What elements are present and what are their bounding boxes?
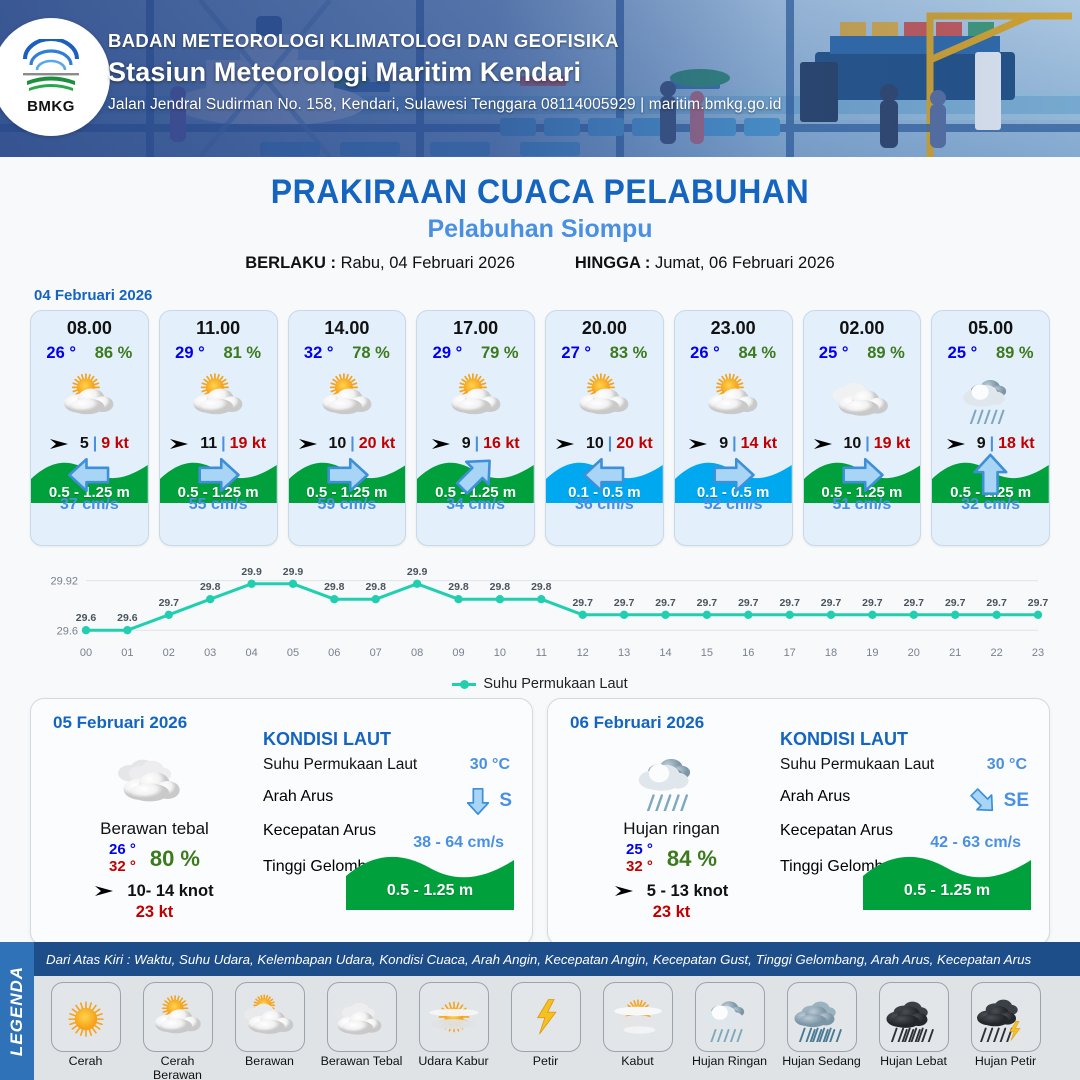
air-temperature: 26 °	[46, 344, 76, 363]
wave-band: 0.5 - 1.25 m 32 cm/s	[932, 457, 1049, 519]
bmkg-logo-icon	[19, 39, 83, 97]
day-weather-icon-slot	[47, 743, 262, 815]
sunny-icon	[57, 992, 115, 1042]
wind-speed: 9	[977, 435, 986, 453]
svg-text:11: 11	[536, 647, 547, 659]
current-row: 34 cm/s	[417, 496, 534, 514]
sst-label: Suhu Permukaan Laut	[263, 756, 417, 773]
wind-speed: 9	[719, 435, 728, 453]
sst-value: 30 °C	[987, 756, 1027, 774]
wind-gust: 19 kt	[230, 435, 266, 453]
wind-speed: 10	[844, 435, 862, 453]
humidity: 89 %	[867, 344, 905, 363]
current-speed: 52 cm/s	[704, 496, 763, 514]
partly-cloudy-icon	[187, 370, 249, 423]
wind-gust: 20 kt	[616, 435, 652, 453]
legend-icon-box	[419, 982, 489, 1052]
wind-direction-icon	[615, 883, 641, 899]
svg-text:16: 16	[742, 647, 754, 659]
wind-separator: |	[865, 435, 869, 453]
sst-chart-svg: 29.629.9229.60029.60129.70229.80329.9042…	[28, 562, 1052, 674]
forecast-card: 23.00 26 ° 84 % 9	[674, 310, 793, 546]
wind-row: 9 | 16 kt	[417, 435, 534, 453]
legend-item: Petir	[504, 982, 587, 1069]
current-speed-label: Kecepatan Arus	[263, 822, 376, 839]
forecast-time: 14.00	[289, 318, 406, 339]
legend-item-label: Hujan Lebat	[872, 1055, 955, 1069]
legend-side-title: LEGENDA	[7, 966, 27, 1056]
wind-separator: |	[221, 435, 225, 453]
air-temperature: 29 °	[433, 344, 463, 363]
wind-direction-icon	[50, 436, 76, 452]
wave-band: 0.5 - 1.25 m 51 cm/s	[804, 457, 921, 519]
sst-chart: 29.629.9229.60029.60129.70229.80329.9042…	[28, 562, 1052, 674]
thunderstorm-icon	[977, 992, 1035, 1042]
day-wind-gust: 23 kt	[564, 903, 779, 922]
current-speed: 55 cm/s	[189, 496, 248, 514]
partly-cloudy-icon	[445, 370, 507, 423]
forecast-time: 02.00	[804, 318, 921, 339]
legend-item: Cerah	[44, 982, 127, 1069]
sea-conditions-block: KONDISI LAUT Suhu Permukaan Laut 30 °C A…	[780, 729, 1035, 888]
wave-height-value: 0.5 - 1.25 m	[863, 882, 1031, 900]
day-humidity: 84 %	[667, 846, 717, 872]
valid-from-label: BERLAKU :	[245, 254, 336, 272]
forecast-time: 20.00	[546, 318, 663, 339]
wind-direction-icon	[947, 436, 973, 452]
svg-text:29.7: 29.7	[738, 597, 759, 609]
current-direction-icon	[675, 452, 792, 498]
light-rain-icon	[635, 747, 709, 811]
wind-speed: 10	[586, 435, 604, 453]
svg-text:22: 22	[990, 647, 1002, 659]
current-speed: 51 cm/s	[833, 496, 892, 514]
wave-height-badge: 0.5 - 1.25 m	[346, 846, 514, 910]
light-rain-icon	[701, 992, 759, 1042]
svg-text:09: 09	[452, 647, 464, 659]
wind-row: 9 | 18 kt	[932, 435, 1049, 453]
wind-direction-icon	[689, 436, 715, 452]
legend-note: Dari Atas Kiri : Waktu, Suhu Udara, Kele…	[34, 942, 1080, 976]
svg-text:29.7: 29.7	[572, 597, 593, 609]
svg-text:10: 10	[494, 647, 506, 659]
wind-direction-icon	[814, 436, 840, 452]
svg-text:13: 13	[618, 647, 630, 659]
forecast-card-row: 08.00 26 ° 86 % 5	[0, 310, 1080, 546]
svg-text:29.7: 29.7	[1028, 597, 1049, 609]
valid-from: BERLAKU : Rabu, 04 Februari 2026	[245, 254, 515, 273]
wave-band: 0.1 - 0.5 m 52 cm/s	[675, 457, 792, 519]
svg-text:29.7: 29.7	[697, 597, 718, 609]
daily-summary-row: 05 Februari 2026	[0, 698, 1080, 946]
legend-item-label: Hujan Ringan	[688, 1055, 771, 1069]
station-name: Stasiun Meteorologi Maritim Kendari	[108, 57, 781, 88]
wind-separator: |	[990, 435, 994, 453]
legend-item: Hujan Petir	[964, 982, 1047, 1069]
legend-item-label: Udara Kabur	[412, 1055, 495, 1069]
current-speed-label: Kecepatan Arus	[780, 822, 893, 839]
day-date: 05 Februari 2026	[53, 713, 187, 733]
svg-text:29.9: 29.9	[407, 566, 428, 578]
partly-cloudy-icon	[573, 370, 635, 423]
legend-item-label: Hujan Petir	[964, 1055, 1047, 1069]
wave-shape-icon	[346, 846, 514, 910]
forecast-card: 20.00 27 ° 83 % 10	[545, 310, 664, 546]
forecast-time: 11.00	[160, 318, 277, 339]
svg-text:29.8: 29.8	[324, 581, 345, 593]
day-weather-block: Berawan tebal 26 ° 32 ° 80 % 10- 14 knot…	[47, 743, 262, 922]
current-direction-icon	[546, 452, 663, 498]
humidity: 83 %	[610, 344, 648, 363]
day-weather-icon-slot	[564, 743, 779, 815]
station-address: Jalan Jendral Sudirman No. 158, Kendari,…	[108, 96, 781, 114]
mostly-cloudy-icon	[241, 992, 299, 1042]
legend-item-label: Petir	[504, 1055, 587, 1069]
legend-item-label: Hujan Sedang	[780, 1055, 863, 1069]
day-temp-min: 25 °	[626, 842, 653, 859]
current-direction-row: Arah Arus SE	[780, 788, 1035, 822]
cloudy-icon	[831, 370, 893, 423]
wind-direction-icon	[432, 436, 458, 452]
valid-to-label: HINGGA :	[575, 254, 650, 272]
legend-item-label: Berawan Tebal	[320, 1055, 403, 1069]
day-temp-max: 32 °	[626, 859, 653, 876]
day-temp-range: 25 ° 32 °	[626, 842, 653, 876]
forecast-time: 23.00	[675, 318, 792, 339]
legend-items: Cerah Cerah Berawan	[34, 976, 1080, 1080]
legend-item-label: Cerah Berawan	[136, 1055, 219, 1080]
legend-item: Berawan	[228, 982, 311, 1069]
sst-value: 30 °C	[470, 756, 510, 774]
day-condition: Berawan tebal	[47, 819, 262, 839]
page-subtitle: Pelabuhan Siompu	[0, 215, 1080, 244]
wind-direction-icon	[299, 436, 325, 452]
svg-text:07: 07	[370, 647, 382, 659]
weather-icon-slot	[289, 366, 406, 428]
wind-row: 5 | 9 kt	[31, 435, 148, 453]
svg-text:23: 23	[1032, 647, 1044, 659]
current-direction-label: Arah Arus	[263, 788, 333, 805]
bmkg-logo-text: BMKG	[27, 98, 75, 115]
legend-icon-box	[787, 982, 857, 1052]
wave-band: 0.5 - 1.25 m 34 cm/s	[417, 457, 534, 519]
svg-text:29.6: 29.6	[76, 612, 97, 624]
svg-text:05: 05	[287, 647, 299, 659]
daily-summary-card: 05 Februari 2026	[30, 698, 533, 946]
current-direction-icon	[160, 452, 277, 498]
wave-band: 0.5 - 1.25 m 59 cm/s	[289, 457, 406, 519]
legend-label: Suhu Permukaan Laut	[483, 676, 627, 692]
current-speed: 36 cm/s	[575, 496, 634, 514]
humidity: 89 %	[996, 344, 1034, 363]
wind-separator: |	[350, 435, 354, 453]
wind-row: 10 | 20 kt	[289, 435, 406, 453]
svg-text:29.8: 29.8	[365, 581, 386, 593]
wind-gust: 18 kt	[998, 435, 1034, 453]
valid-to: HINGGA : Jumat, 06 Februari 2026	[575, 254, 835, 273]
svg-text:29.92: 29.92	[50, 576, 78, 588]
svg-text:29.8: 29.8	[490, 581, 511, 593]
legend-line-marker-icon	[452, 683, 476, 686]
header-text-block: BADAN METEOROLOGI KLIMATOLOGI DAN GEOFIS…	[108, 30, 781, 114]
legend-item-label: Cerah	[44, 1055, 127, 1069]
weather-icon-slot	[675, 366, 792, 428]
wave-band: 0.5 - 1.25 m 55 cm/s	[160, 457, 277, 519]
current-row: 51 cm/s	[804, 496, 921, 514]
day-wind-row: 10- 14 knot	[47, 882, 262, 901]
legend-item-label: Kabut	[596, 1055, 679, 1069]
wave-height-row: Tinggi Gelombang 0.5 - 1.25 m	[780, 858, 1035, 888]
current-direction-text: S	[499, 790, 512, 812]
wave-band: 0.5 - 1.25 m 37 cm/s	[31, 457, 148, 519]
temp-humidity-row: 26 ° 84 %	[675, 344, 792, 363]
temp-humidity-row: 29 ° 81 %	[160, 344, 277, 363]
legend-side-tab: LEGENDA	[0, 942, 34, 1080]
forecast-date-label: 04 Februari 2026	[34, 287, 1080, 304]
day-wind-speed: 5 - 13 knot	[647, 882, 729, 901]
partly-cloudy-icon	[58, 370, 120, 423]
svg-text:00: 00	[80, 647, 92, 659]
wave-band: 0.1 - 0.5 m 36 cm/s	[546, 457, 663, 519]
day-temp-max: 32 °	[109, 859, 136, 876]
forecast-card: 14.00 32 ° 78 % 10	[288, 310, 407, 546]
current-row: 36 cm/s	[546, 496, 663, 514]
title-section: PRAKIRAAN CUACA PELABUHAN Pelabuhan Siom…	[0, 173, 1080, 273]
legend-icon-box	[143, 982, 213, 1052]
svg-text:20: 20	[908, 647, 920, 659]
current-speed: 32 cm/s	[961, 496, 1020, 514]
legend-section: LEGENDA Dari Atas Kiri : Waktu, Suhu Uda…	[0, 942, 1080, 1080]
forecast-card: 02.00 25 ° 89 %	[803, 310, 922, 546]
svg-text:29.7: 29.7	[779, 597, 800, 609]
fog-icon	[609, 992, 667, 1042]
moderate-rain-icon	[793, 992, 851, 1042]
svg-text:15: 15	[701, 647, 713, 659]
header-banner: BMKG BADAN METEOROLOGI KLIMATOLOGI DAN G…	[0, 0, 1080, 157]
wave-shape-icon	[863, 846, 1031, 910]
forecast-time: 17.00	[417, 318, 534, 339]
heavy-rain-icon	[885, 992, 943, 1042]
svg-text:04: 04	[245, 647, 257, 659]
svg-text:19: 19	[866, 647, 878, 659]
svg-text:06: 06	[328, 647, 340, 659]
weather-icon-slot	[417, 366, 534, 428]
wind-gust: 14 kt	[741, 435, 777, 453]
haze-icon	[425, 992, 483, 1042]
wave-height-badge: 0.5 - 1.25 m	[863, 846, 1031, 910]
weather-icon-slot	[160, 366, 277, 428]
air-temperature: 27 °	[561, 344, 591, 363]
day-temp-humidity: 26 ° 32 ° 80 %	[47, 842, 262, 876]
svg-text:21: 21	[949, 647, 961, 659]
current-speed: 34 cm/s	[446, 496, 505, 514]
current-row: 55 cm/s	[160, 496, 277, 514]
legend-icon-box	[695, 982, 765, 1052]
svg-text:29.8: 29.8	[531, 581, 552, 593]
partly-cloudy-icon	[316, 370, 378, 423]
day-current-direction-icon	[463, 784, 493, 818]
humidity: 81 %	[223, 344, 261, 363]
humidity: 84 %	[738, 344, 776, 363]
current-direction-value: SE	[968, 784, 1029, 818]
day-humidity: 80 %	[150, 846, 200, 872]
svg-text:14: 14	[659, 647, 671, 659]
sea-conditions-title: KONDISI LAUT	[780, 729, 1035, 750]
wind-gust: 16 kt	[483, 435, 519, 453]
humidity: 86 %	[95, 344, 133, 363]
lightning-icon	[517, 992, 575, 1042]
wind-direction-icon	[170, 436, 196, 452]
legend-item: Hujan Sedang	[780, 982, 863, 1069]
day-weather-block: Hujan ringan 25 ° 32 ° 84 % 5 - 13 knot …	[564, 743, 779, 922]
forecast-card: 17.00 29 ° 79 % 9	[416, 310, 535, 546]
svg-text:29.6: 29.6	[117, 612, 138, 624]
sea-conditions-block: KONDISI LAUT Suhu Permukaan Laut 30 °C A…	[263, 729, 518, 888]
svg-text:29.8: 29.8	[200, 581, 221, 593]
svg-text:18: 18	[825, 647, 837, 659]
day-date: 06 Februari 2026	[570, 713, 704, 733]
agency-name: BADAN METEOROLOGI KLIMATOLOGI DAN GEOFIS…	[108, 30, 781, 52]
svg-text:03: 03	[204, 647, 216, 659]
legend-item: Kabut	[596, 982, 679, 1069]
air-temperature: 25 °	[948, 344, 978, 363]
weather-icon-slot	[932, 366, 1049, 428]
svg-text:29.7: 29.7	[821, 597, 842, 609]
current-direction-text: SE	[1004, 790, 1029, 812]
forecast-card: 11.00 29 ° 81 % 11	[159, 310, 278, 546]
air-temperature: 25 °	[819, 344, 849, 363]
current-direction-row: Arah Arus S	[263, 788, 518, 822]
current-direction-icon	[804, 452, 921, 498]
current-direction-label: Arah Arus	[780, 788, 850, 805]
validity-row: BERLAKU : Rabu, 04 Februari 2026 HINGGA …	[0, 254, 1080, 273]
current-direction-icon	[289, 452, 406, 498]
svg-text:29.9: 29.9	[241, 566, 262, 578]
day-temp-range: 26 ° 32 °	[109, 842, 136, 876]
forecast-card: 08.00 26 ° 86 % 5	[30, 310, 149, 546]
wind-row: 10 | 20 kt	[546, 435, 663, 453]
partly-cloudy-icon	[702, 370, 764, 423]
wind-row: 11 | 19 kt	[160, 435, 277, 453]
legend-icon-box	[971, 982, 1041, 1052]
air-temperature: 32 °	[304, 344, 334, 363]
wind-separator: |	[732, 435, 736, 453]
temp-humidity-row: 29 ° 79 %	[417, 344, 534, 363]
svg-text:17: 17	[784, 647, 796, 659]
wave-height-value: 0.5 - 1.25 m	[346, 882, 514, 900]
weather-icon-slot	[804, 366, 921, 428]
temp-humidity-row: 27 ° 83 %	[546, 344, 663, 363]
wave-height-row: Tinggi Gelombang 0.5 - 1.25 m	[263, 858, 518, 888]
wind-speed: 9	[462, 435, 471, 453]
current-row: 59 cm/s	[289, 496, 406, 514]
humidity: 78 %	[352, 344, 390, 363]
overcast-icon	[118, 747, 192, 811]
legend-item: Berawan Tebal	[320, 982, 403, 1069]
svg-text:29.8: 29.8	[448, 581, 469, 593]
wind-row: 10 | 19 kt	[804, 435, 921, 453]
current-row: 52 cm/s	[675, 496, 792, 514]
daily-summary-card: 06 Februari 2026 Hujan r	[547, 698, 1050, 946]
forecast-time: 05.00	[932, 318, 1049, 339]
day-wind-row: 5 - 13 knot	[564, 882, 779, 901]
svg-text:29.6: 29.6	[57, 625, 78, 637]
svg-text:29.7: 29.7	[986, 597, 1007, 609]
infographic-page: BMKG BADAN METEOROLOGI KLIMATOLOGI DAN G…	[0, 0, 1080, 1080]
humidity: 79 %	[481, 344, 519, 363]
legend-icon-box	[603, 982, 673, 1052]
svg-text:02: 02	[163, 647, 175, 659]
page-title: PRAKIRAAN CUACA PELABUHAN	[32, 173, 1047, 212]
wind-direction-icon	[556, 436, 582, 452]
current-direction-icon	[932, 452, 1049, 498]
wind-separator: |	[93, 435, 97, 453]
wind-speed: 10	[329, 435, 347, 453]
temp-humidity-row: 25 ° 89 %	[932, 344, 1049, 363]
wind-gust: 20 kt	[359, 435, 395, 453]
svg-text:29.7: 29.7	[904, 597, 925, 609]
wind-speed: 11	[200, 435, 217, 453]
current-row: 32 cm/s	[932, 496, 1049, 514]
svg-text:29.7: 29.7	[862, 597, 883, 609]
svg-text:01: 01	[121, 647, 133, 659]
svg-text:08: 08	[411, 647, 423, 659]
svg-text:29.7: 29.7	[945, 597, 966, 609]
temp-humidity-row: 25 ° 89 %	[804, 344, 921, 363]
current-speed: 59 cm/s	[318, 496, 377, 514]
current-speed: 37 cm/s	[60, 496, 119, 514]
sst-label: Suhu Permukaan Laut	[780, 756, 934, 773]
legend-item: Hujan Ringan	[688, 982, 771, 1069]
weather-icon-slot	[31, 366, 148, 428]
light-rain-icon	[960, 370, 1022, 423]
forecast-time: 08.00	[31, 318, 148, 339]
temp-humidity-row: 32 ° 78 %	[289, 344, 406, 363]
legend-icon-box	[327, 982, 397, 1052]
air-temperature: 29 °	[175, 344, 205, 363]
weather-icon-slot	[546, 366, 663, 428]
wind-direction-icon	[95, 883, 121, 899]
svg-text:29.9: 29.9	[283, 566, 304, 578]
valid-from-value: Rabu, 04 Februari 2026	[341, 254, 515, 272]
valid-to-value: Jumat, 06 Februari 2026	[655, 254, 835, 272]
svg-text:29.7: 29.7	[614, 597, 635, 609]
temp-humidity-row: 26 ° 86 %	[31, 344, 148, 363]
wind-separator: |	[608, 435, 612, 453]
day-temp-min: 26 °	[109, 842, 136, 859]
wind-separator: |	[475, 435, 479, 453]
wind-speed: 5	[80, 435, 89, 453]
forecast-card: 05.00 25 ° 89 %	[931, 310, 1050, 546]
day-current-direction-icon	[968, 784, 998, 818]
legend-icon-box	[511, 982, 581, 1052]
svg-text:29.7: 29.7	[655, 597, 676, 609]
current-direction-value: S	[463, 784, 512, 818]
partly-cloudy-icon	[149, 992, 207, 1042]
wind-row: 9 | 14 kt	[675, 435, 792, 453]
legend-item: Hujan Lebat	[872, 982, 955, 1069]
current-row: 37 cm/s	[31, 496, 148, 514]
wind-gust: 9 kt	[101, 435, 129, 453]
air-temperature: 26 °	[690, 344, 720, 363]
current-direction-icon	[417, 452, 534, 498]
legend-item: Cerah Berawan	[136, 982, 219, 1080]
day-wind-gust: 23 kt	[47, 903, 262, 922]
overcast-icon	[333, 992, 391, 1042]
day-wind-speed: 10- 14 knot	[127, 882, 213, 901]
legend-icon-box	[879, 982, 949, 1052]
day-temp-humidity: 25 ° 32 ° 84 %	[564, 842, 779, 876]
